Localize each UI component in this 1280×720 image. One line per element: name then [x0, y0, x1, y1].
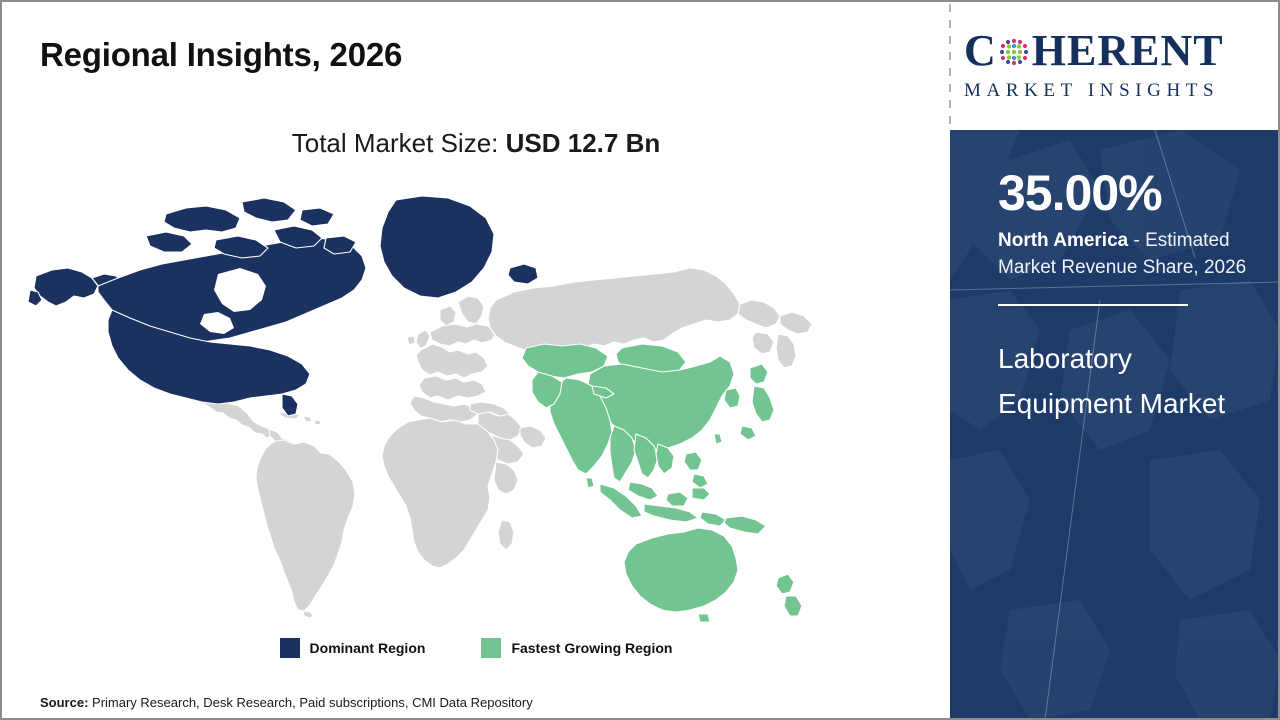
source-text: Primary Research, Desk Research, Paid su…: [88, 695, 532, 710]
legend-label-dominant: Dominant Region: [310, 640, 426, 656]
world-map: [26, 182, 836, 622]
panel-divider-rule: [998, 304, 1188, 306]
total-market-size: Total Market Size: USD 12.7 Bn: [2, 128, 950, 159]
legend-label-fastest-growing: Fastest Growing Region: [511, 640, 672, 656]
stat-region-name: North America: [998, 230, 1128, 251]
fastest-growing-region-swatch: [481, 638, 501, 658]
map-region-asia-pacific: [522, 344, 802, 622]
stat-percentage: 35.00%: [998, 168, 1250, 218]
dotted-globe-icon: [997, 35, 1031, 69]
source-label: Source:: [40, 695, 88, 710]
total-market-size-label: Total Market Size:: [292, 128, 499, 158]
logo-subtitle: MARKET INSIGHTS: [964, 80, 1264, 102]
vertical-dashed-divider: [949, 4, 951, 130]
legend-item-dominant: Dominant Region: [280, 638, 426, 658]
map-legend: Dominant Region Fastest Growing Region: [2, 638, 950, 658]
stat-description: North America - Estimated Market Revenue…: [998, 228, 1250, 282]
legend-item-fastest-growing: Fastest Growing Region: [481, 638, 672, 658]
infographic-slide: Regional Insights, 2026 Total Market Siz…: [0, 0, 1280, 720]
dominant-region-swatch: [280, 638, 300, 658]
logo-word-herent: HERENT: [1032, 29, 1224, 73]
stat-panel-content: 35.00% North America - Estimated Market …: [950, 130, 1280, 427]
logo-word-c: C: [964, 29, 997, 73]
market-name: Laboratory Equipment Market: [998, 336, 1238, 427]
logo-wordmark: C: [964, 24, 1264, 78]
page-title: Regional Insights, 2026: [40, 36, 402, 74]
coherent-market-insights-logo: C: [964, 24, 1264, 112]
total-market-size-value: USD 12.7 Bn: [506, 128, 661, 158]
world-map-svg: [26, 182, 836, 622]
stat-panel: 35.00% North America - Estimated Market …: [950, 130, 1280, 720]
source-note: Source: Primary Research, Desk Research,…: [40, 695, 533, 710]
left-content-pane: Regional Insights, 2026 Total Market Siz…: [2, 2, 950, 718]
